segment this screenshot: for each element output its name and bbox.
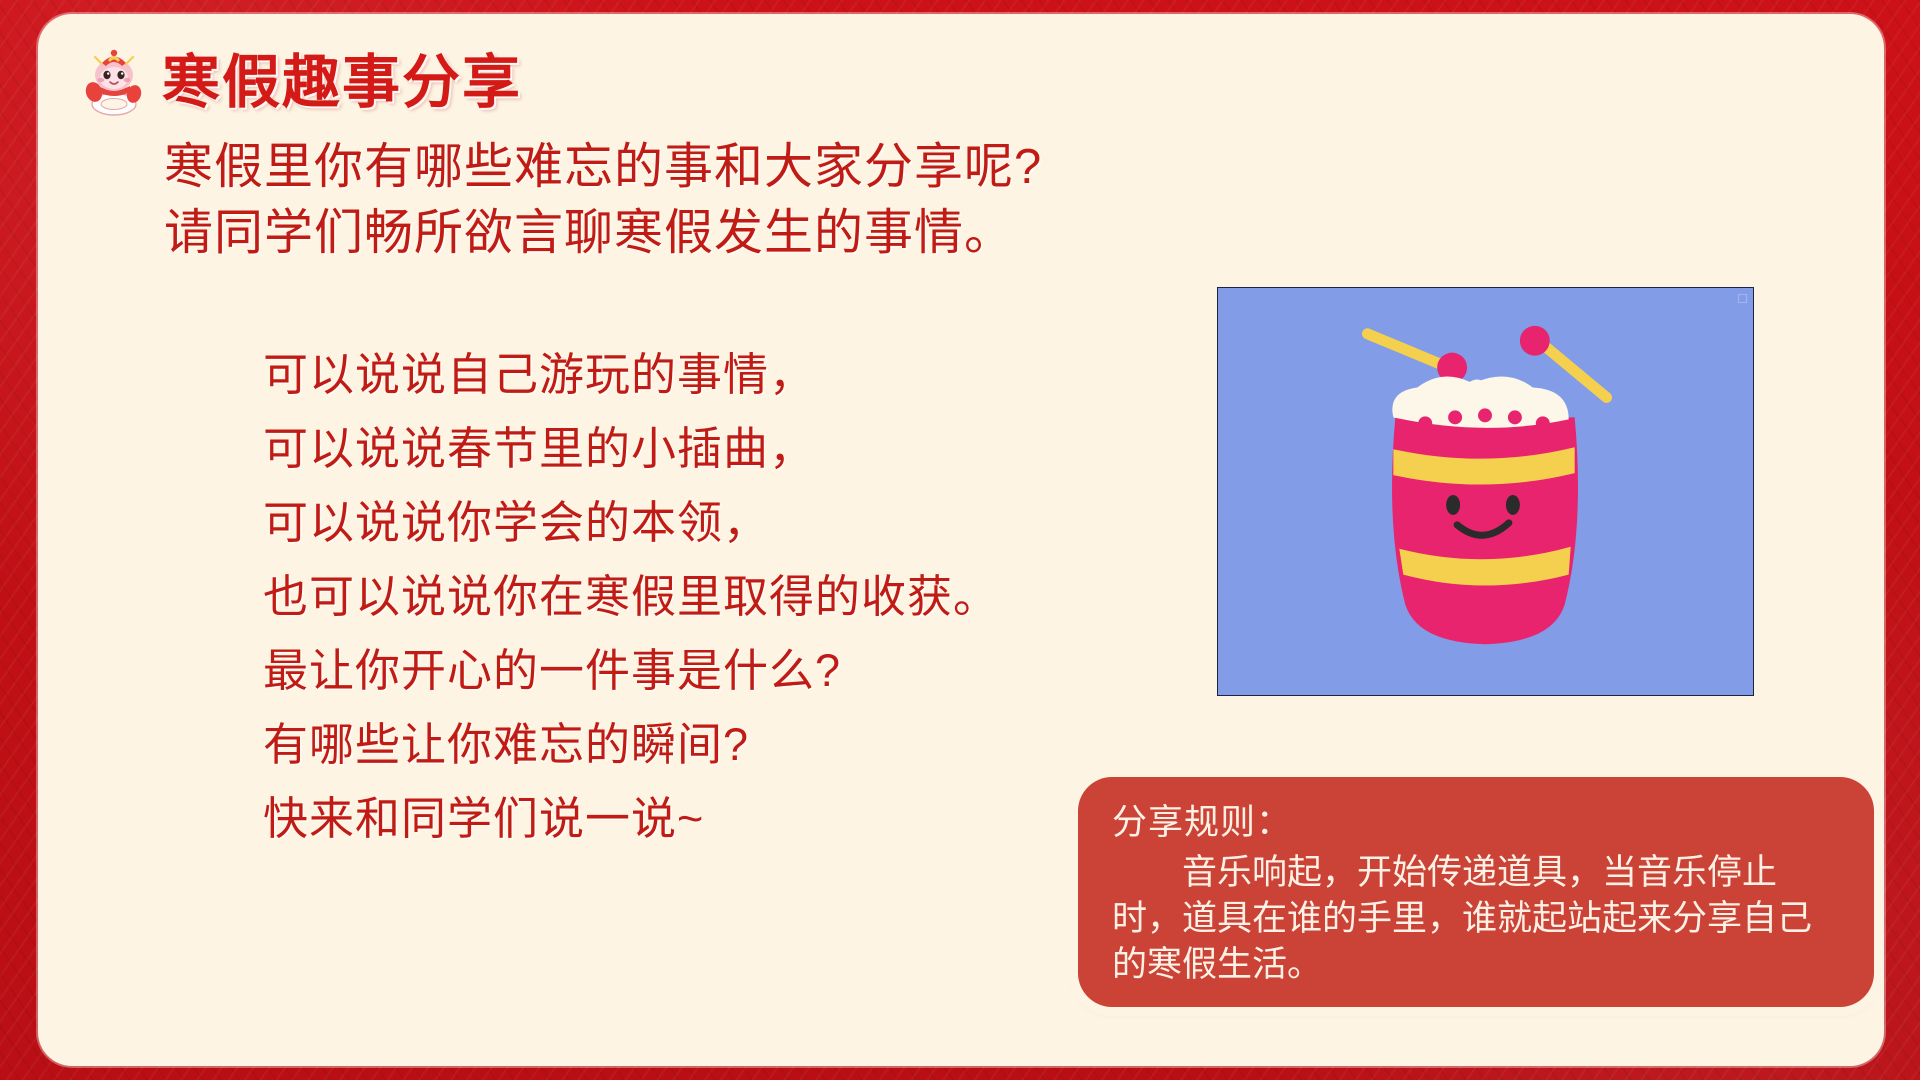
intro-line-1: 寒假里你有哪些难忘的事和大家分享呢? (164, 134, 1042, 200)
list-item: 可以说说你学会的本领， (263, 486, 999, 560)
image-corner-marker (1738, 294, 1747, 303)
title-row: 寒假趣事分享 (82, 48, 522, 118)
list-item: 快来和同学们说一说~ (263, 782, 999, 856)
intro-text: 寒假里你有哪些难忘的事和大家分享呢? 请同学们畅所欲言聊寒假发生的事情。 (164, 134, 1042, 266)
drum-illustration-image (1217, 287, 1754, 696)
list-item: 可以说说春节里的小插曲， (263, 412, 999, 486)
rules-body: 音乐响起，开始传递道具，当音乐停止时，道具在谁的手里，谁就起站起来分享自己的寒假… (1112, 850, 1846, 988)
slide-card: 寒假趣事分享 寒假里你有哪些难忘的事和大家分享呢? 请同学们畅所欲言聊寒假发生的… (38, 14, 1884, 1066)
list-item: 有哪些让你难忘的瞬间? (263, 708, 999, 782)
list-item: 也可以说说你在寒假里取得的收获。 (263, 560, 999, 634)
rules-title: 分享规则： (1112, 799, 1846, 846)
prompt-list: 可以说说自己游玩的事情， 可以说说春节里的小插曲， 可以说说你学会的本领， 也可… (263, 338, 999, 856)
list-item: 可以说说自己游玩的事情， (263, 338, 999, 412)
list-item: 最让你开心的一件事是什么? (263, 634, 999, 708)
page-title: 寒假趣事分享 (162, 54, 522, 112)
snake-mascot-icon (82, 48, 146, 118)
share-rules-box: 分享规则： 音乐响起，开始传递道具，当音乐停止时，道具在谁的手里，谁就起站起来分… (1078, 777, 1874, 1007)
intro-line-2: 请同学们畅所欲言聊寒假发生的事情。 (164, 200, 1042, 266)
